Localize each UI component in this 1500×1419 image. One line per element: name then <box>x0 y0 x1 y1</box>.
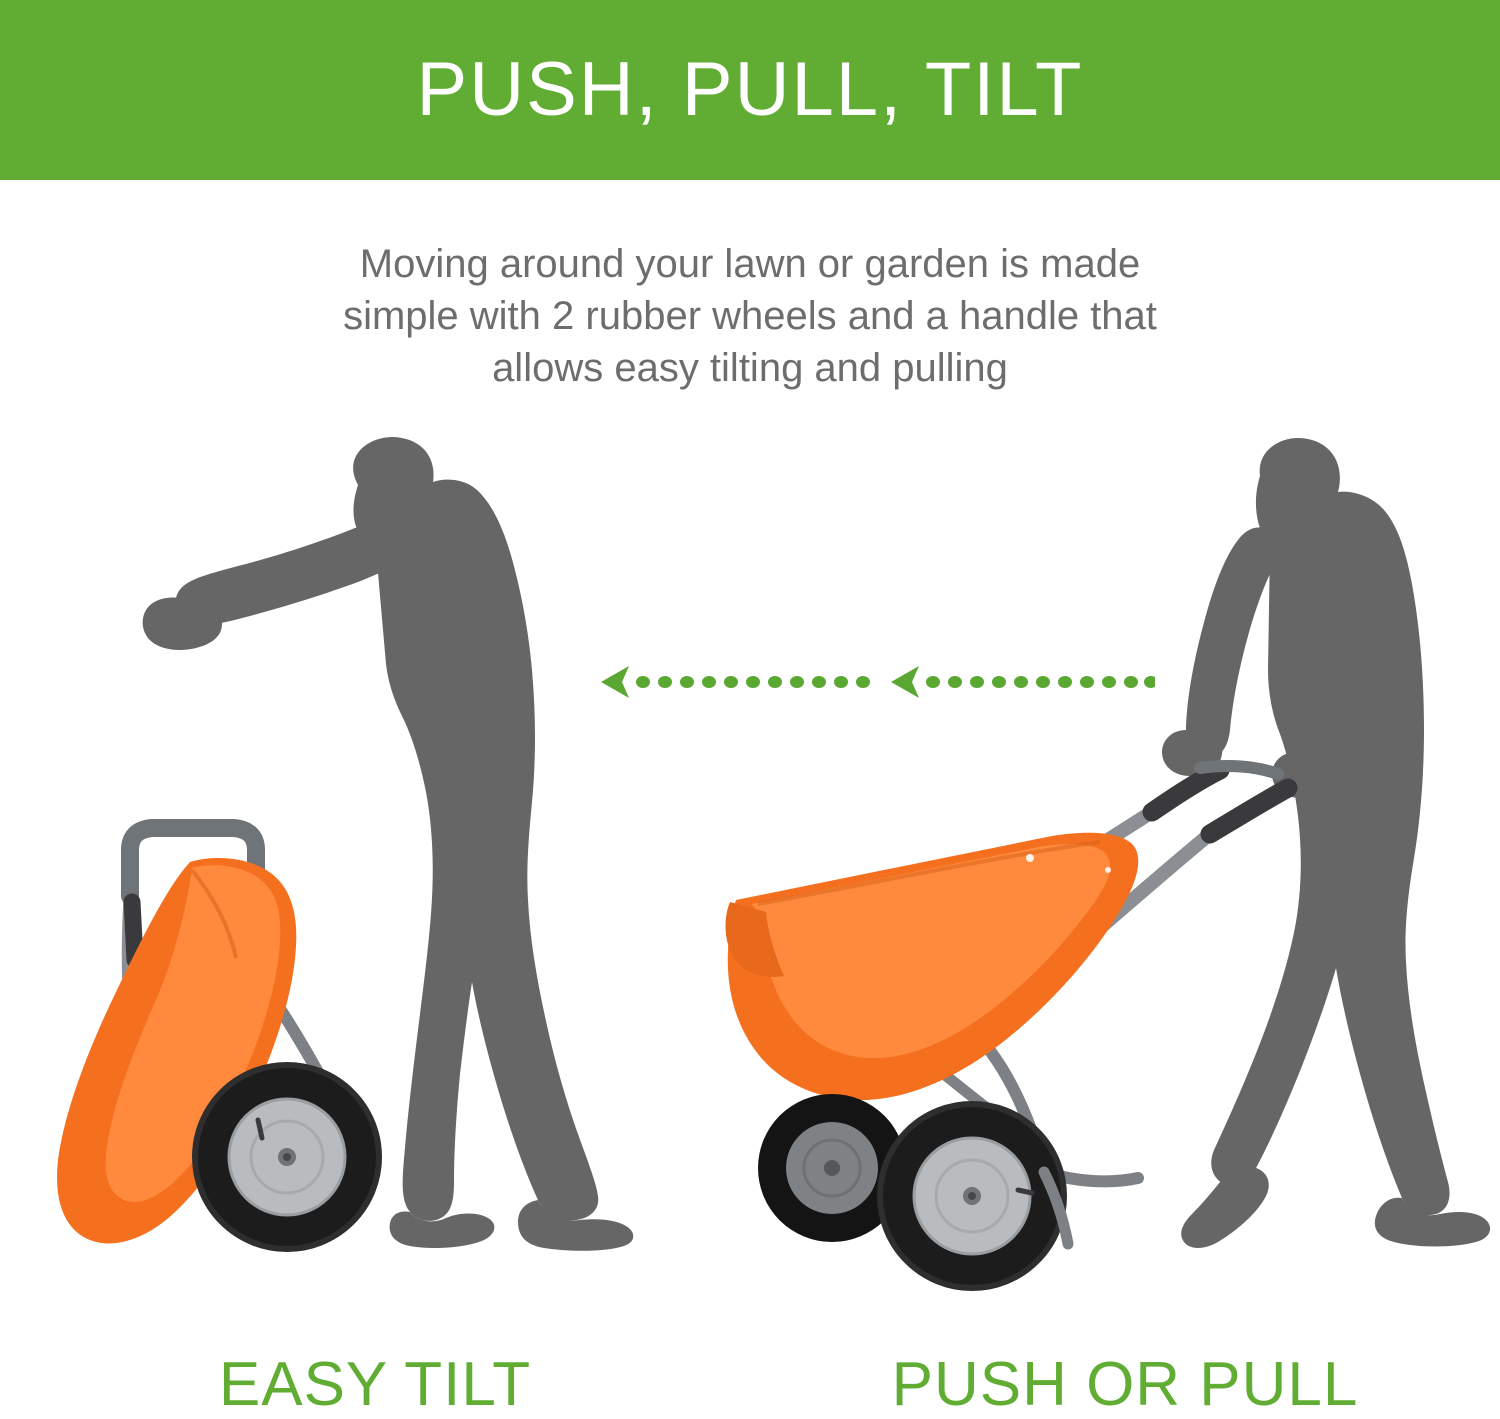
subtitle-line-1: Moving around your lawn or garden is mad… <box>250 238 1250 290</box>
direction-arrows <box>595 662 1155 702</box>
page-title: PUSH, PULL, TILT <box>417 52 1084 128</box>
subtitle-paragraph: Moving around your lawn or garden is mad… <box>250 238 1250 394</box>
scene-push-or-pull <box>700 430 1490 1300</box>
wheel-icon <box>195 1065 379 1249</box>
caption-push-or-pull: PUSH OR PULL <box>750 1352 1500 1418</box>
dotted-left-arrow-icon-1 <box>601 666 870 698</box>
scene-easy-tilt <box>40 430 700 1300</box>
subtitle-line-2: simple with 2 rubber wheels and a handle… <box>250 290 1250 342</box>
wheel-icon-front <box>880 1104 1064 1288</box>
wheelbarrow-tilted-icon <box>57 828 379 1249</box>
caption-easy-tilt: EASY TILT <box>0 1352 750 1418</box>
dotted-left-arrow-icon-2 <box>891 666 1155 698</box>
subtitle-line-3: allows easy tilting and pulling <box>250 342 1250 394</box>
header-banner: PUSH, PULL, TILT <box>0 0 1500 180</box>
